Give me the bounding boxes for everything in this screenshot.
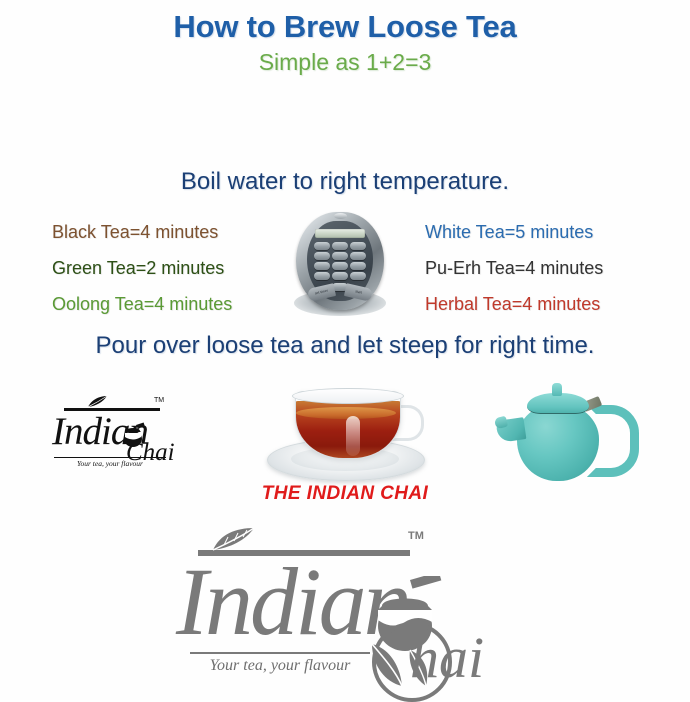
timer-body: set timer start (296, 212, 384, 310)
timer-display (315, 229, 365, 238)
teapot-image (495, 381, 635, 485)
timer-key (314, 272, 330, 280)
timer-key (314, 252, 330, 260)
teapot-lid (527, 393, 589, 414)
cup-highlight (346, 416, 360, 456)
brew-time-white-tea: White Tea=5 minutes (425, 214, 675, 250)
step-1-heading: Boil water to right temperature. (0, 167, 690, 197)
timer-key (350, 252, 366, 260)
brand-logo-small: TM Indian Chai Your tea, your flavour (42, 387, 192, 479)
timer-key (350, 272, 366, 280)
logo-word-chai: hai (410, 626, 484, 690)
tea-surface (296, 407, 396, 419)
brew-time-puerh-tea: Pu-Erh Tea=4 minutes (425, 250, 675, 286)
timer-key (350, 262, 366, 270)
trademark-mark: TM (408, 530, 424, 542)
logo-tagline: Your tea, your flavour (190, 652, 370, 675)
timer-key (332, 262, 348, 270)
timer-key (350, 242, 366, 250)
timer-key (314, 262, 330, 270)
trademark-mark: TM (154, 397, 164, 404)
brew-time-oolong-tea: Oolong Tea=4 minutes (52, 286, 302, 322)
header: How to Brew Loose Tea Simple as 1+2=3 (0, 8, 690, 77)
timer-key (332, 252, 348, 260)
timer-key (332, 242, 348, 250)
brand-logo-large: TM Indian hai Your tea, your flavour (170, 518, 520, 694)
step-2-heading: Pour over loose tea and let steep for ri… (0, 331, 690, 361)
kitchen-timer-icon: set timer start (292, 212, 388, 318)
brew-times-left-column: Black Tea=4 minutes Green Tea=2 minutes … (52, 214, 302, 322)
product-row: TM Indian Chai Your tea, your flavour TH… (0, 375, 690, 510)
timer-key (332, 272, 348, 280)
brew-time-green-tea: Green Tea=2 minutes (52, 250, 302, 286)
timer-keypad (314, 242, 366, 280)
timer-key (314, 242, 330, 250)
teapot-lid-knob (552, 383, 562, 396)
page-subtitle: Simple as 1+2=3 (0, 47, 690, 77)
timer-top-button (334, 213, 347, 219)
brew-time-black-tea: Black Tea=4 minutes (52, 214, 302, 250)
logo-tagline: Your tea, your flavour (54, 457, 166, 468)
brew-times-right-column: White Tea=5 minutes Pu-Erh Tea=4 minutes… (425, 214, 675, 322)
cup-rim (292, 388, 404, 404)
brew-time-herbal-tea: Herbal Tea=4 minutes (425, 286, 675, 322)
page-title: How to Brew Loose Tea (0, 8, 690, 46)
teapot-body (517, 403, 599, 481)
teacup-image (255, 375, 435, 483)
leaf-icon (86, 395, 108, 409)
brand-caption: THE INDIAN CHAI (230, 483, 460, 505)
